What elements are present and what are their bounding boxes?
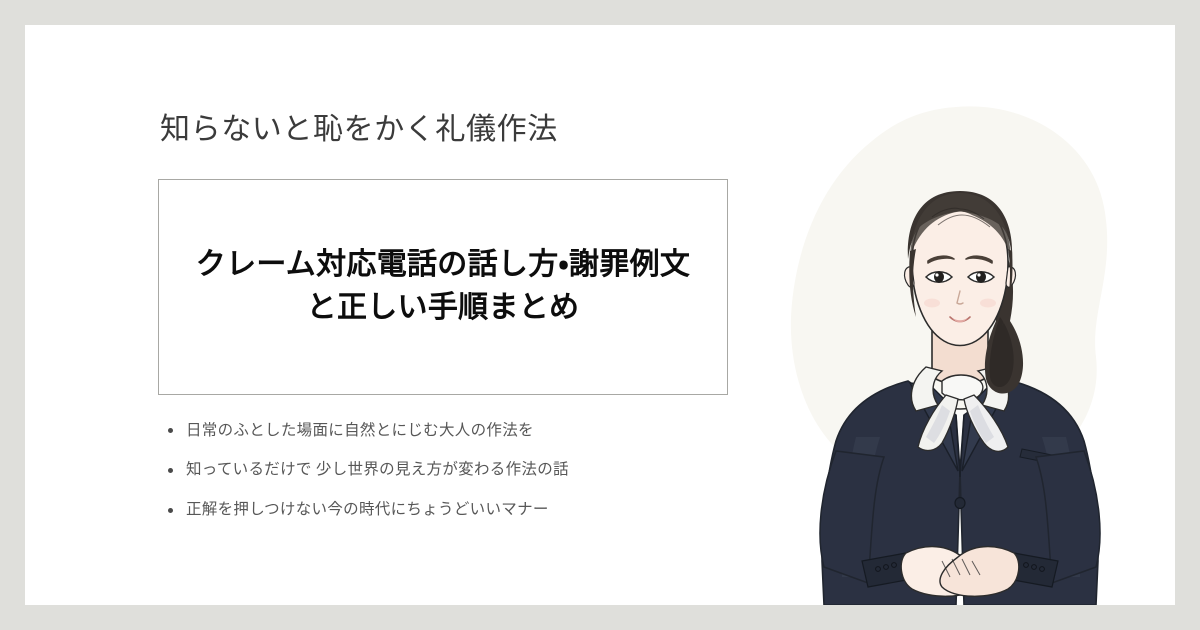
list-item: 知っているだけで 少し世界の見え方が変わる作法の話 [186, 460, 768, 481]
bullet-list: 日常のふとした場面に自然とにじむ大人の作法を 知っているだけで 少し世界の見え方… [158, 421, 768, 522]
list-item: 正解を押しつけない今の時代にちょうどいいマナー [186, 500, 768, 521]
list-item: 日常のふとした場面に自然とにじむ大人の作法を [186, 421, 768, 442]
page-title: クレーム対応電話の話し方・謝罪例文と正しい手順まとめ [181, 244, 705, 329]
businesswoman-illustration-svg [760, 85, 1160, 605]
list-item-label: 日常のふとした場面に自然とにじむ大人の作法を [186, 422, 534, 439]
slide-card: 知らないと恥をかく礼儀作法 クレーム対応電話の話し方・謝罪例文と正しい手順まとめ… [25, 25, 1175, 605]
bullet-dot-icon [168, 508, 173, 513]
jacket-button [955, 498, 965, 509]
eyebrow-heading: 知らないと恥をかく礼儀作法 [160, 110, 768, 151]
slide-root: 知らないと恥をかく礼儀作法 クレーム対応電話の話し方・謝罪例文と正しい手順まとめ… [0, 0, 1200, 630]
text-column: 知らないと恥をかく礼儀作法 クレーム対応電話の話し方・謝罪例文と正しい手順まとめ… [158, 110, 768, 540]
bullet-dot-icon [168, 468, 173, 473]
list-item-label: 知っているだけで 少し世界の見え方が変わる作法の話 [186, 461, 569, 478]
bullet-dot-icon [168, 428, 173, 433]
businesswoman-illustration [760, 85, 1160, 605]
title-box: クレーム対応電話の話し方・謝罪例文と正しい手順まとめ [158, 179, 728, 395]
list-item-label: 正解を押しつけない今の時代にちょうどいいマナー [186, 501, 549, 518]
